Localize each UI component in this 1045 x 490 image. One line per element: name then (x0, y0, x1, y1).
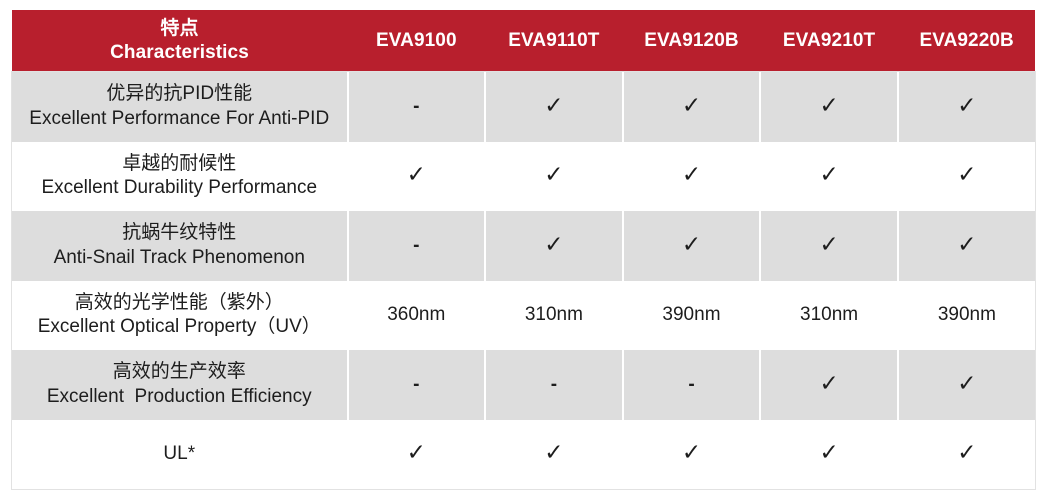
value-cell: ✓ (760, 420, 898, 490)
characteristic-cell: 抗蜗牛纹特性Anti-Snail Track Phenomenon (12, 211, 348, 281)
value-cell: - (623, 350, 761, 420)
value-cell: - (485, 350, 623, 420)
value-cell: ✓ (898, 72, 1036, 142)
value-cell: ✓ (898, 211, 1036, 281)
value-text: 360nm (387, 304, 445, 326)
value-cell: ✓ (485, 420, 623, 490)
column-header-eva9210t: EVA9210T (760, 10, 898, 72)
value-cell: ✓ (623, 142, 761, 212)
value-cell: - (348, 211, 486, 281)
check-icon: ✓ (819, 442, 838, 465)
value-text: 390nm (662, 304, 720, 326)
column-header-eva9110t: EVA9110T (485, 10, 623, 72)
value-cell: 390nm (623, 281, 761, 351)
column-header-eva9120b: EVA9120B (623, 10, 761, 72)
check-icon: ✓ (957, 373, 976, 396)
value-text: 390nm (938, 304, 996, 326)
check-icon: ✓ (957, 95, 976, 118)
value-cell: ✓ (898, 420, 1036, 490)
check-icon: ✓ (407, 442, 426, 465)
product-specification-table: 特点 Characteristics EVA9100 EVA9110T EVA9… (11, 10, 1036, 490)
value-cell: 360nm (348, 281, 486, 351)
value-cell: ✓ (898, 350, 1036, 420)
value-text: 310nm (525, 304, 583, 326)
dash-icon: - (551, 374, 557, 396)
value-cell: 390nm (898, 281, 1036, 351)
value-cell: ✓ (348, 420, 486, 490)
table-header-row: 特点 Characteristics EVA9100 EVA9110T EVA9… (12, 10, 1036, 72)
dash-icon: - (413, 374, 419, 396)
table-row: 高效的光学性能（紫外）Excellent Optical Property（UV… (12, 281, 1036, 351)
characteristic-label-en: Excellent Durability Performance (18, 176, 341, 200)
column-header-characteristics-en: Characteristics (12, 41, 348, 65)
characteristic-label-cn: 高效的生产效率 (18, 360, 341, 384)
value-cell: ✓ (623, 211, 761, 281)
check-icon: ✓ (407, 164, 426, 187)
table-body: 优异的抗PID性能Excellent Performance For Anti-… (12, 72, 1036, 489)
column-header-characteristics-cn: 特点 (12, 18, 348, 41)
dash-icon: - (413, 235, 419, 257)
dash-icon: - (688, 374, 694, 396)
column-header-characteristics: 特点 Characteristics (12, 10, 348, 72)
characteristic-label-cn: 高效的光学性能（紫外） (18, 291, 341, 315)
characteristic-label-en: Excellent Performance For Anti-PID (18, 107, 341, 131)
characteristic-cell: 高效的生产效率Excellent Production Efficiency (12, 350, 348, 420)
table-row: 高效的生产效率Excellent Production Efficiency--… (12, 350, 1036, 420)
check-icon: ✓ (682, 164, 701, 187)
value-cell: - (348, 72, 486, 142)
characteristic-cell: 高效的光学性能（紫外）Excellent Optical Property（UV… (12, 281, 348, 351)
characteristic-label-cn: 优异的抗PID性能 (18, 82, 341, 106)
value-cell: 310nm (760, 281, 898, 351)
characteristic-cell: UL* (12, 420, 348, 490)
value-text: 310nm (800, 304, 858, 326)
check-icon: ✓ (682, 95, 701, 118)
value-cell: ✓ (623, 72, 761, 142)
value-cell: ✓ (348, 142, 486, 212)
check-icon: ✓ (544, 95, 563, 118)
check-icon: ✓ (819, 95, 838, 118)
value-cell: ✓ (760, 211, 898, 281)
column-header-eva9100: EVA9100 (348, 10, 486, 72)
table-row: UL*✓✓✓✓✓ (12, 420, 1036, 490)
value-cell: ✓ (485, 211, 623, 281)
column-header-eva9220b: EVA9220B (898, 10, 1036, 72)
characteristic-label-en: UL* (18, 442, 341, 466)
check-icon: ✓ (819, 373, 838, 396)
check-icon: ✓ (544, 442, 563, 465)
value-cell: ✓ (485, 72, 623, 142)
table-header: 特点 Characteristics EVA9100 EVA9110T EVA9… (12, 10, 1036, 72)
value-cell: ✓ (760, 72, 898, 142)
value-cell: ✓ (760, 350, 898, 420)
check-icon: ✓ (682, 442, 701, 465)
characteristic-label-en: Anti-Snail Track Phenomenon (18, 246, 341, 270)
characteristic-cell: 卓越的耐候性Excellent Durability Performance (12, 142, 348, 212)
characteristic-label-en: Excellent Optical Property（UV） (18, 315, 341, 339)
value-cell: ✓ (623, 420, 761, 490)
value-cell: ✓ (485, 142, 623, 212)
check-icon: ✓ (819, 164, 838, 187)
characteristic-label-cn: 卓越的耐候性 (18, 152, 341, 176)
value-cell: ✓ (898, 142, 1036, 212)
check-icon: ✓ (957, 442, 976, 465)
check-icon: ✓ (957, 234, 976, 257)
check-icon: ✓ (544, 234, 563, 257)
check-icon: ✓ (544, 164, 563, 187)
check-icon: ✓ (682, 234, 701, 257)
value-cell: ✓ (760, 142, 898, 212)
characteristic-label-en: Excellent Production Efficiency (18, 385, 341, 409)
table-row: 优异的抗PID性能Excellent Performance For Anti-… (12, 72, 1036, 142)
dash-icon: - (413, 96, 419, 118)
table-row: 卓越的耐候性Excellent Durability Performance✓✓… (12, 142, 1036, 212)
value-cell: - (348, 350, 486, 420)
characteristic-cell: 优异的抗PID性能Excellent Performance For Anti-… (12, 72, 348, 142)
check-icon: ✓ (819, 234, 838, 257)
value-cell: 310nm (485, 281, 623, 351)
spec-table-container: 特点 Characteristics EVA9100 EVA9110T EVA9… (11, 10, 1035, 478)
characteristic-label-cn: 抗蜗牛纹特性 (18, 221, 341, 245)
check-icon: ✓ (957, 164, 976, 187)
table-row: 抗蜗牛纹特性Anti-Snail Track Phenomenon-✓✓✓✓ (12, 211, 1036, 281)
